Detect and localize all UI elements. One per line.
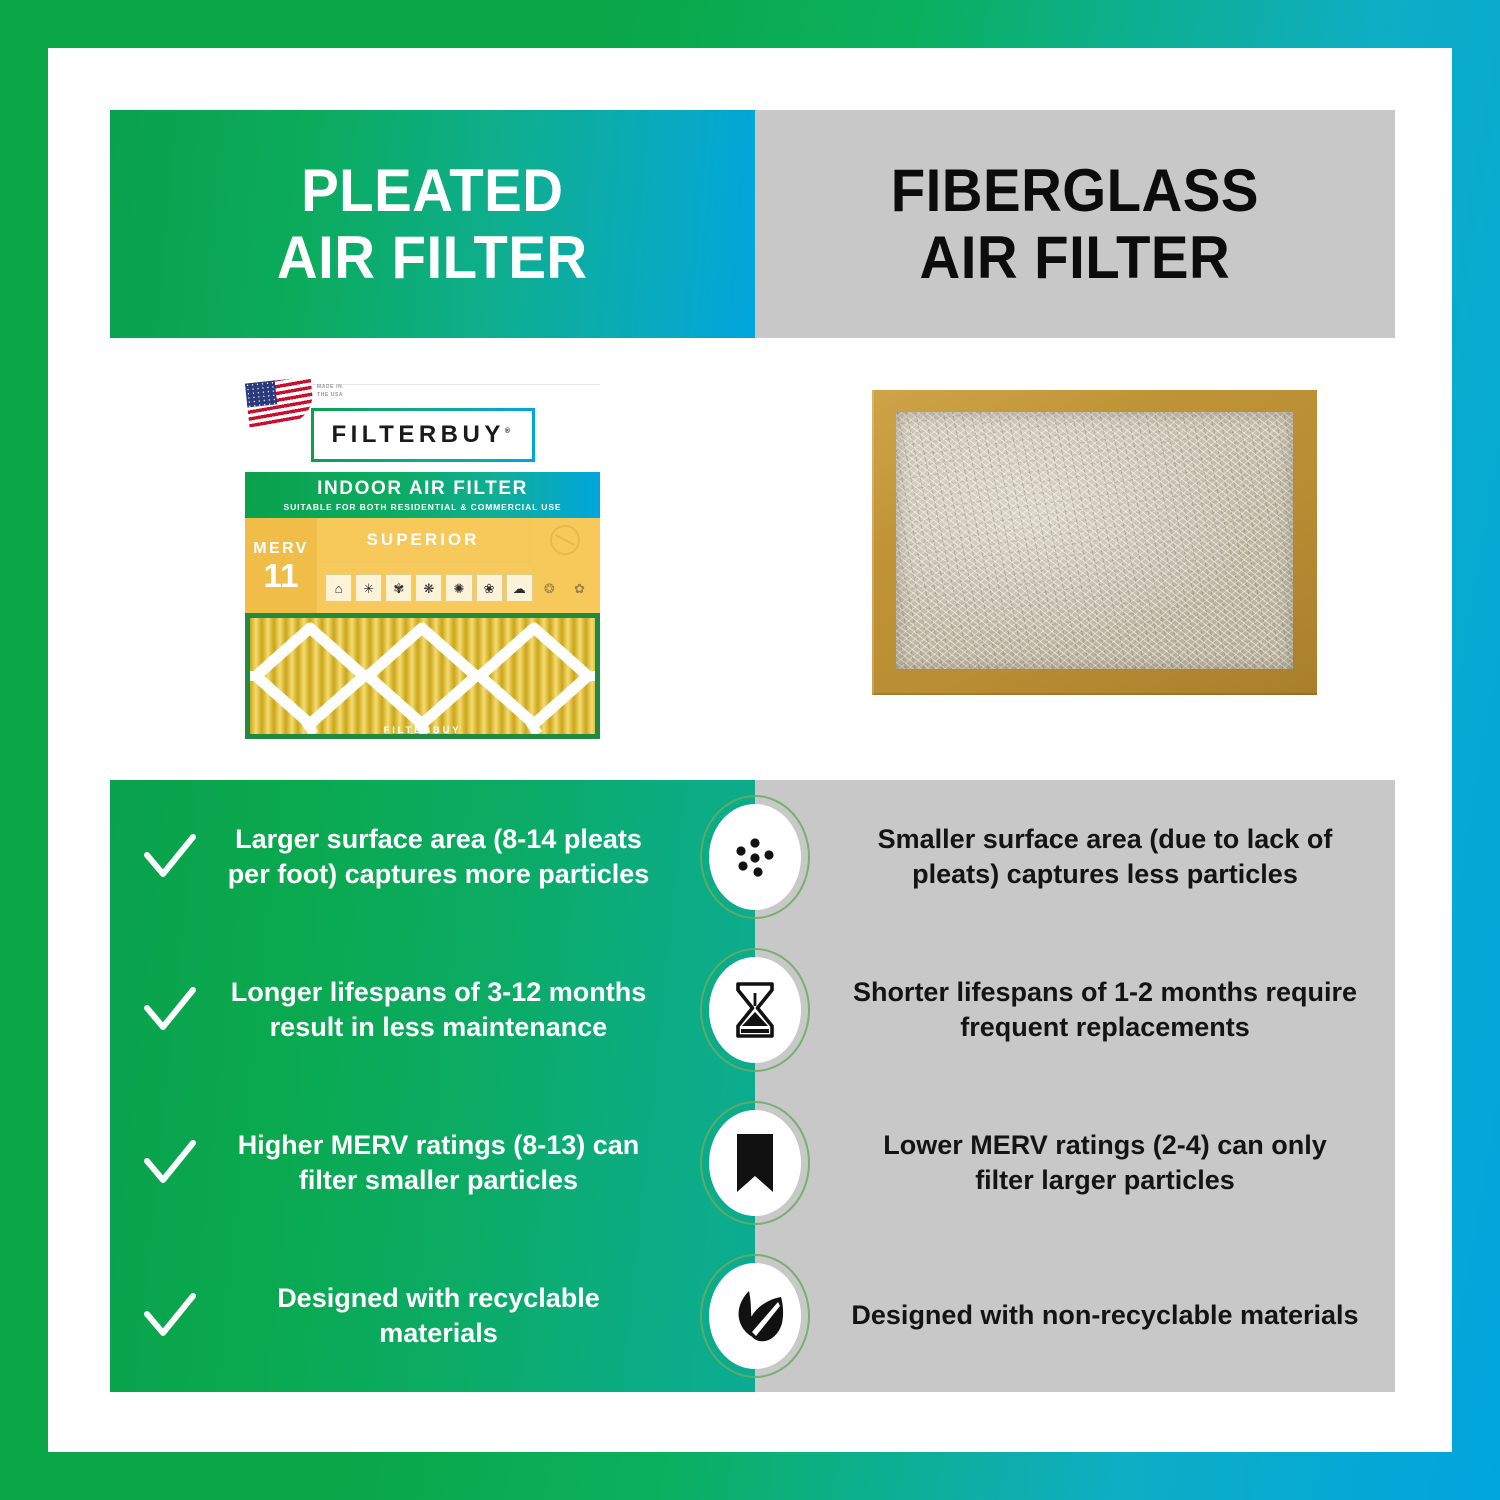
merv-gold-panel: MERV 11 SUPERIOR ⌂ ✳ ✾ ❋ ✺ ❀ ☁: [245, 518, 600, 613]
header-band: PLEATED AIR FILTER FIBERGLASS AIR FILTER: [110, 110, 1395, 338]
odor-icon: ✿: [566, 574, 593, 602]
filterbuy-logo-text: FILTERBUY®: [331, 421, 514, 449]
row2-right-cell: Shorter lifespans of 1-2 months require …: [755, 975, 1395, 1043]
mold-spore-icon: ✺: [445, 574, 472, 602]
table-row: Higher MERV ratings (8-13) can filter sm…: [110, 1086, 1395, 1239]
pleated-media-view: FILTERBUY: [245, 613, 600, 739]
header-left-pleated: PLEATED AIR FILTER: [110, 110, 755, 338]
tier-label: SUPERIOR: [317, 518, 530, 563]
insect-icon: ✳: [355, 574, 382, 602]
row4-left-cell: Designed with recyclable materials: [110, 1281, 755, 1349]
table-row: Designed with recyclable materials Desig…: [110, 1239, 1395, 1392]
row2-right-text: Shorter lifespans of 1-2 months require …: [851, 975, 1359, 1043]
feature-icon-row: ⌂ ✳ ✾ ❋ ✺ ❀ ☁ ❂ ✿: [325, 566, 593, 610]
pleated-title-line1: PLEATED: [301, 157, 563, 224]
fiberglass-title-line2: AIR FILTER: [891, 224, 1259, 291]
pollen-icon: ❋: [415, 574, 442, 602]
row1-right-cell: Smaller surface area (due to lack of ple…: [755, 822, 1395, 890]
hourglass-icon: [709, 957, 801, 1063]
ul-certification-icon: [529, 518, 600, 562]
dust-icon: ⌂: [325, 574, 352, 602]
comparison-rows: Larger surface area (8-14 pleats per foo…: [110, 780, 1395, 1392]
merv-value: 11: [264, 559, 299, 592]
fiberglass-media-texture: [896, 412, 1293, 669]
table-row: Longer lifespans of 3-12 months result i…: [110, 933, 1395, 1086]
checkmark-icon: [142, 982, 198, 1038]
comparison-table: Larger surface area (8-14 pleats per foo…: [110, 780, 1395, 1392]
pleated-title-line2: AIR FILTER: [277, 224, 588, 291]
filterbuy-logo: FILTERBUY®: [311, 408, 535, 462]
merv-badge: MERV 11: [245, 518, 317, 613]
made-in-usa-text: MADE IN THE USA: [317, 384, 343, 399]
leaf-icon: [709, 1263, 801, 1369]
row3-right-cell: Lower MERV ratings (2-4) can only filter…: [755, 1128, 1395, 1196]
pleated-filter-box: MADE IN THE USA FILTERBUY® INDOOR AIR FI…: [245, 374, 600, 739]
merv-label: MERV: [253, 540, 309, 558]
fiberglass-header-title: FIBERGLASS AIR FILTER: [891, 157, 1259, 291]
row3-right-text: Lower MERV ratings (2-4) can only filter…: [851, 1128, 1359, 1196]
wire-mesh-overlay: [250, 618, 595, 734]
fiberglass-filter-product-image: [872, 390, 1317, 695]
pleated-header-title: PLEATED AIR FILTER: [277, 157, 588, 291]
pleated-filter-product-image: MADE IN THE USA FILTERBUY® INDOOR AIR FI…: [245, 374, 600, 739]
usa-flag-icon: [245, 377, 315, 428]
lint-icon: ❂: [536, 574, 563, 602]
row2-left-cell: Longer lifespans of 3-12 months result i…: [110, 975, 755, 1043]
particles-icon: [709, 804, 801, 910]
row2-left-text: Longer lifespans of 3-12 months result i…: [218, 975, 659, 1043]
pleat-footer-brand: FILTERBUY: [245, 725, 600, 736]
row4-left-text: Designed with recyclable materials: [218, 1281, 659, 1349]
row1-right-text: Smaller surface area (due to lack of ple…: [851, 822, 1359, 890]
row4-right-text: Designed with non-recyclable materials: [851, 1298, 1358, 1332]
bacteria-icon: ✾: [385, 574, 412, 602]
pet-dander-icon: ❀: [476, 574, 503, 602]
made-in-line2: THE USA: [317, 392, 343, 400]
fiberglass-title-line1: FIBERGLASS: [891, 157, 1259, 224]
made-in-line1: MADE IN: [317, 384, 343, 392]
pleat-texture: [250, 618, 595, 734]
checkmark-icon: [142, 829, 198, 885]
product-image-row: MADE IN THE USA FILTERBUY® INDOOR AIR FI…: [110, 338, 1395, 774]
row3-left-text: Higher MERV ratings (8-13) can filter sm…: [218, 1128, 659, 1196]
indoor-air-filter-band: INDOOR AIR FILTER SUITABLE FOR BOTH RESI…: [245, 472, 600, 518]
row1-left-text: Larger surface area (8-14 pleats per foo…: [218, 822, 659, 890]
bookmark-icon: [709, 1110, 801, 1216]
header-right-fiberglass: FIBERGLASS AIR FILTER: [755, 110, 1395, 338]
band-subtitle: SUITABLE FOR BOTH RESIDENTIAL & COMMERCI…: [284, 502, 562, 512]
infographic-root: PLEATED AIR FILTER FIBERGLASS AIR FILTER: [0, 0, 1500, 1500]
table-row: Larger surface area (8-14 pleats per foo…: [110, 780, 1395, 933]
row3-left-cell: Higher MERV ratings (8-13) can filter sm…: [110, 1128, 755, 1196]
row1-left-cell: Larger surface area (8-14 pleats per foo…: [110, 822, 755, 890]
checkmark-icon: [142, 1135, 198, 1191]
row4-right-cell: Designed with non-recyclable materials: [755, 1298, 1395, 1332]
band-title: INDOOR AIR FILTER: [317, 478, 528, 500]
smoke-icon: ☁: [506, 574, 533, 602]
checkmark-icon: [142, 1288, 198, 1344]
